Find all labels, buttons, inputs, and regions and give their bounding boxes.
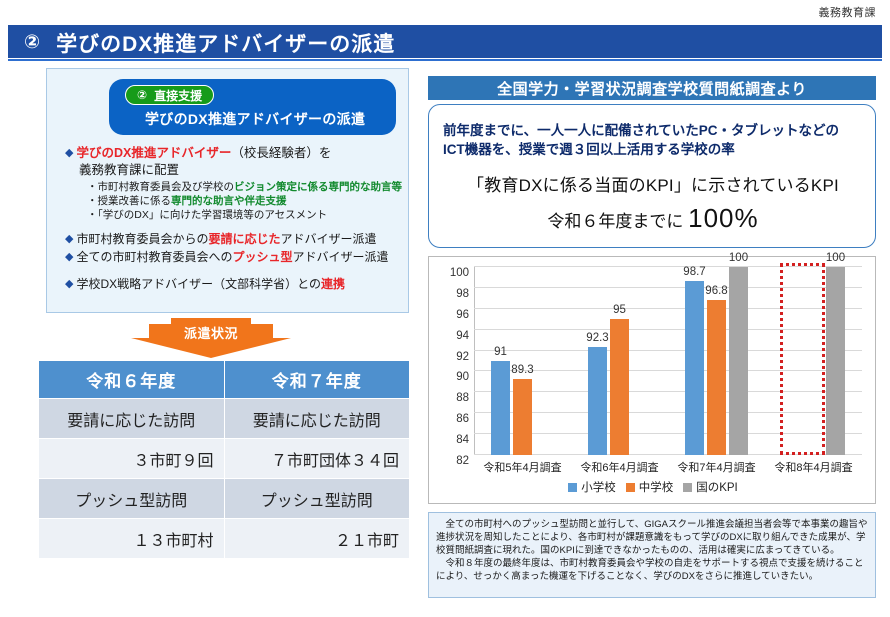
bullet-3-text: 全ての市町村教育委員会へのプッシュ型アドバイザー派遣 bbox=[76, 249, 388, 266]
bullet-item-4: ◆ 学校DX戦略アドバイザー（文部科学省）との連携 bbox=[65, 276, 395, 293]
bullet-3-red: プッシュ型 bbox=[232, 250, 292, 264]
bar-value-label: 92.3 bbox=[586, 332, 608, 344]
bullet-3-post: アドバイザー派遣 bbox=[293, 250, 389, 264]
target-highlight-annotation bbox=[780, 263, 825, 455]
bullet-2-red: 要請に応じた bbox=[208, 232, 280, 246]
left-info-panel: ② 直接支援 学びのDX推進アドバイザーの派遣 ◆ 学びのDX推進アドバイザー（… bbox=[46, 68, 409, 313]
bar-value-label: 100 bbox=[826, 252, 845, 264]
table-header-row: 令和６年度 令和７年度 bbox=[39, 361, 410, 399]
bar-value-label: 91 bbox=[494, 346, 507, 358]
chart-bar bbox=[491, 361, 510, 455]
badge-subtitle: 学びのDX推進アドバイザーの派遣 bbox=[145, 109, 365, 129]
diamond-icon: ◆ bbox=[65, 145, 73, 161]
kpi-target-value: 100% bbox=[688, 203, 759, 233]
table-row: １３市町村 ２１市町 bbox=[39, 519, 410, 559]
diamond-icon: ◆ bbox=[65, 231, 73, 247]
x-axis-tick-label: 令和5年4月調査 bbox=[483, 459, 561, 475]
y-axis bbox=[474, 267, 475, 455]
footnote-box: 全ての市町村へのプッシュ型訪問と並行して、GIGAスクール推進会議担当者会等で本… bbox=[428, 512, 876, 598]
legend-item: 小学校 bbox=[568, 479, 616, 495]
legend-label: 小学校 bbox=[581, 479, 616, 495]
bullet-1-rest: （校長経験者）を bbox=[231, 146, 331, 160]
chart-bar bbox=[610, 319, 629, 455]
kpi-box: 前年度までに、一人一人に配備されていたPC・タブレットなどの ICT機器を、授業… bbox=[428, 104, 876, 248]
legend-label: 国のKPI bbox=[696, 479, 738, 495]
bullet-1-sublist: ・市町村教育委員会及び学校のビジョン策定に係る専門的な助言等 ・授業改善に係る専… bbox=[87, 180, 395, 222]
footnote-paragraph-1: 全ての市町村へのプッシュ型訪問と並行して、GIGAスクール推進会議担当者会等で本… bbox=[436, 518, 868, 557]
kpi-description: 前年度までに、一人一人に配備されていたPC・タブレットなどの ICT機器を、授業… bbox=[443, 121, 863, 159]
sub-green: 専門的な助言や伴走支援 bbox=[171, 195, 287, 207]
table-cell: 要請に応じた訪問 bbox=[224, 399, 410, 439]
legend-swatch bbox=[626, 483, 635, 492]
direct-support-badge: ② 直接支援 bbox=[125, 85, 214, 105]
arrow-label: 派遣状況 bbox=[131, 323, 291, 342]
chart-bar bbox=[588, 347, 607, 455]
bullet-item-2: ◆ 市町村教育委員会からの要請に応じたアドバイザー派遣 bbox=[65, 231, 395, 248]
chart-bar bbox=[685, 281, 704, 455]
diamond-icon: ◆ bbox=[65, 249, 73, 265]
bar-chart: 8284868890929496981009189.3令和5年4月調査92.39… bbox=[428, 256, 876, 504]
diamond-icon: ◆ bbox=[65, 276, 73, 292]
footnote-paragraph-2: 令和８年度の最終年度は、市町村教育委員会や学校の自走をサポートする視点で支援を続… bbox=[436, 557, 868, 583]
kpi-reference: 「教育DXに係る当面のKPI」に示されているKPI bbox=[429, 171, 877, 196]
chart-legend: 小学校中学校国のKPI bbox=[429, 479, 877, 495]
table-row: 要請に応じた訪問 要請に応じた訪問 bbox=[39, 399, 410, 439]
table-cell: プッシュ型訪問 bbox=[39, 479, 225, 519]
spacer bbox=[65, 222, 395, 231]
badge-label: 直接支援 bbox=[154, 87, 202, 104]
survey-header: 全国学力・学習状況調査学校質問紙調査より bbox=[428, 76, 876, 100]
direct-support-banner: ② 直接支援 学びのDX推進アドバイザーの派遣 bbox=[109, 79, 396, 135]
bullet-4-text: 学校DX戦略アドバイザー（文部科学省）との連携 bbox=[76, 276, 345, 293]
sub-item: ・「学びのDX」に向けた学習環境等のアセスメント bbox=[87, 208, 395, 222]
slide-title-bar: ② 学びのDX推進アドバイザーの派遣 bbox=[8, 25, 882, 58]
sub-plain: ・授業改善に係る bbox=[87, 195, 171, 207]
dispatch-status-arrow: 派遣状況 bbox=[131, 318, 291, 358]
sub-green: ビジョン策定に係る専門的な助言等 bbox=[234, 181, 402, 193]
bar-value-label: 89.3 bbox=[511, 364, 533, 376]
bullet-3-pre: 全ての市町村教育委員会への bbox=[76, 250, 232, 264]
bullet-4-red: 連携 bbox=[321, 277, 345, 291]
table-row: ３市町９回 ７市町団体３４回 bbox=[39, 439, 410, 479]
x-axis-tick-label: 令和7年4月調査 bbox=[677, 459, 755, 475]
bar-value-label: 100 bbox=[729, 252, 748, 264]
table-cell: １３市町村 bbox=[39, 519, 225, 559]
legend-item: 国のKPI bbox=[683, 479, 738, 495]
department-label: 義務教育課 bbox=[819, 4, 877, 20]
table-col-header-r6: 令和６年度 bbox=[39, 361, 225, 399]
chart-bar bbox=[707, 300, 726, 455]
table-cell: ３市町９回 bbox=[39, 439, 225, 479]
table-row: プッシュ型訪問 プッシュ型訪問 bbox=[39, 479, 410, 519]
table-cell: 要請に応じた訪問 bbox=[39, 399, 225, 439]
title-number: ② bbox=[24, 31, 40, 54]
bar-value-label: 98.7 bbox=[683, 266, 705, 278]
bullet-1-line2: 義務教育課に配置 bbox=[79, 162, 395, 178]
bullet-2-text: 市町村教育委員会からの要請に応じたアドバイザー派遣 bbox=[76, 231, 376, 248]
legend-swatch bbox=[568, 483, 577, 492]
bullet-1-text: 学びのDX推進アドバイザー（校長経験者）を bbox=[76, 145, 331, 161]
bullet-item-3: ◆ 全ての市町村教育委員会へのプッシュ型アドバイザー派遣 bbox=[65, 249, 395, 266]
bar-value-label: 95 bbox=[613, 304, 626, 316]
bar-value-label: 96.8 bbox=[705, 285, 727, 297]
sub-plain: ・「学びのDX」に向けた学習環境等のアセスメント bbox=[87, 209, 327, 221]
legend-swatch bbox=[683, 483, 692, 492]
bullet-4-pre: 学校DX戦略アドバイザー（文部科学省）との bbox=[76, 277, 321, 291]
dispatch-table: 令和６年度 令和７年度 要請に応じた訪問 要請に応じた訪問 ３市町９回 ７市町団… bbox=[38, 360, 410, 559]
legend-item: 中学校 bbox=[626, 479, 674, 495]
table-col-header-r7: 令和７年度 bbox=[224, 361, 410, 399]
sub-item: ・市町村教育委員会及び学校のビジョン策定に係る専門的な助言等 bbox=[87, 180, 395, 194]
bullet-list: ◆ 学びのDX推進アドバイザー（校長経験者）を 義務教育課に配置 ・市町村教育委… bbox=[65, 145, 395, 294]
page-title: 学びのDX推進アドバイザーの派遣 bbox=[56, 28, 395, 58]
spacer bbox=[65, 267, 395, 276]
kpi-desc-line1: 前年度までに、一人一人に配備されていたPC・タブレットなどの bbox=[443, 121, 863, 140]
bullet-2-post: アドバイザー派遣 bbox=[281, 232, 377, 246]
legend-label: 中学校 bbox=[639, 479, 674, 495]
x-axis-tick-label: 令和6年4月調査 bbox=[580, 459, 658, 475]
bullet-item-1: ◆ 学びのDX推進アドバイザー（校長経験者）を bbox=[65, 145, 395, 161]
badge-number: ② bbox=[137, 88, 147, 102]
kpi-desc-line2: ICT機器を、授業で週３回以上活用する学校の率 bbox=[443, 140, 863, 159]
slide-page: 義務教育課 ② 学びのDX推進アドバイザーの派遣 ② 直接支援 学びのDX推進ア… bbox=[0, 0, 890, 617]
sub-item: ・授業改善に係る専門的な助言や伴走支援 bbox=[87, 194, 395, 208]
kpi-target: 令和６年度までに 100% bbox=[429, 203, 877, 234]
bullet-2-pre: 市町村教育委員会からの bbox=[76, 232, 208, 246]
x-axis-tick-label: 令和8年4月調査 bbox=[774, 459, 852, 475]
chart-plot-area: 8284868890929496981009189.3令和5年4月調査92.39… bbox=[474, 267, 862, 455]
table-cell: プッシュ型訪問 bbox=[224, 479, 410, 519]
table-cell: ２１市町 bbox=[224, 519, 410, 559]
chart-bar bbox=[513, 379, 532, 455]
bullet-1-red: 学びのDX推進アドバイザー bbox=[76, 146, 231, 160]
table-cell: ７市町団体３４回 bbox=[224, 439, 410, 479]
title-underline bbox=[8, 59, 882, 61]
sub-plain: ・市町村教育委員会及び学校の bbox=[87, 181, 234, 193]
chart-bar bbox=[729, 267, 748, 455]
kpi-target-pre: 令和６年度までに bbox=[547, 212, 683, 231]
chart-bar bbox=[826, 267, 845, 455]
